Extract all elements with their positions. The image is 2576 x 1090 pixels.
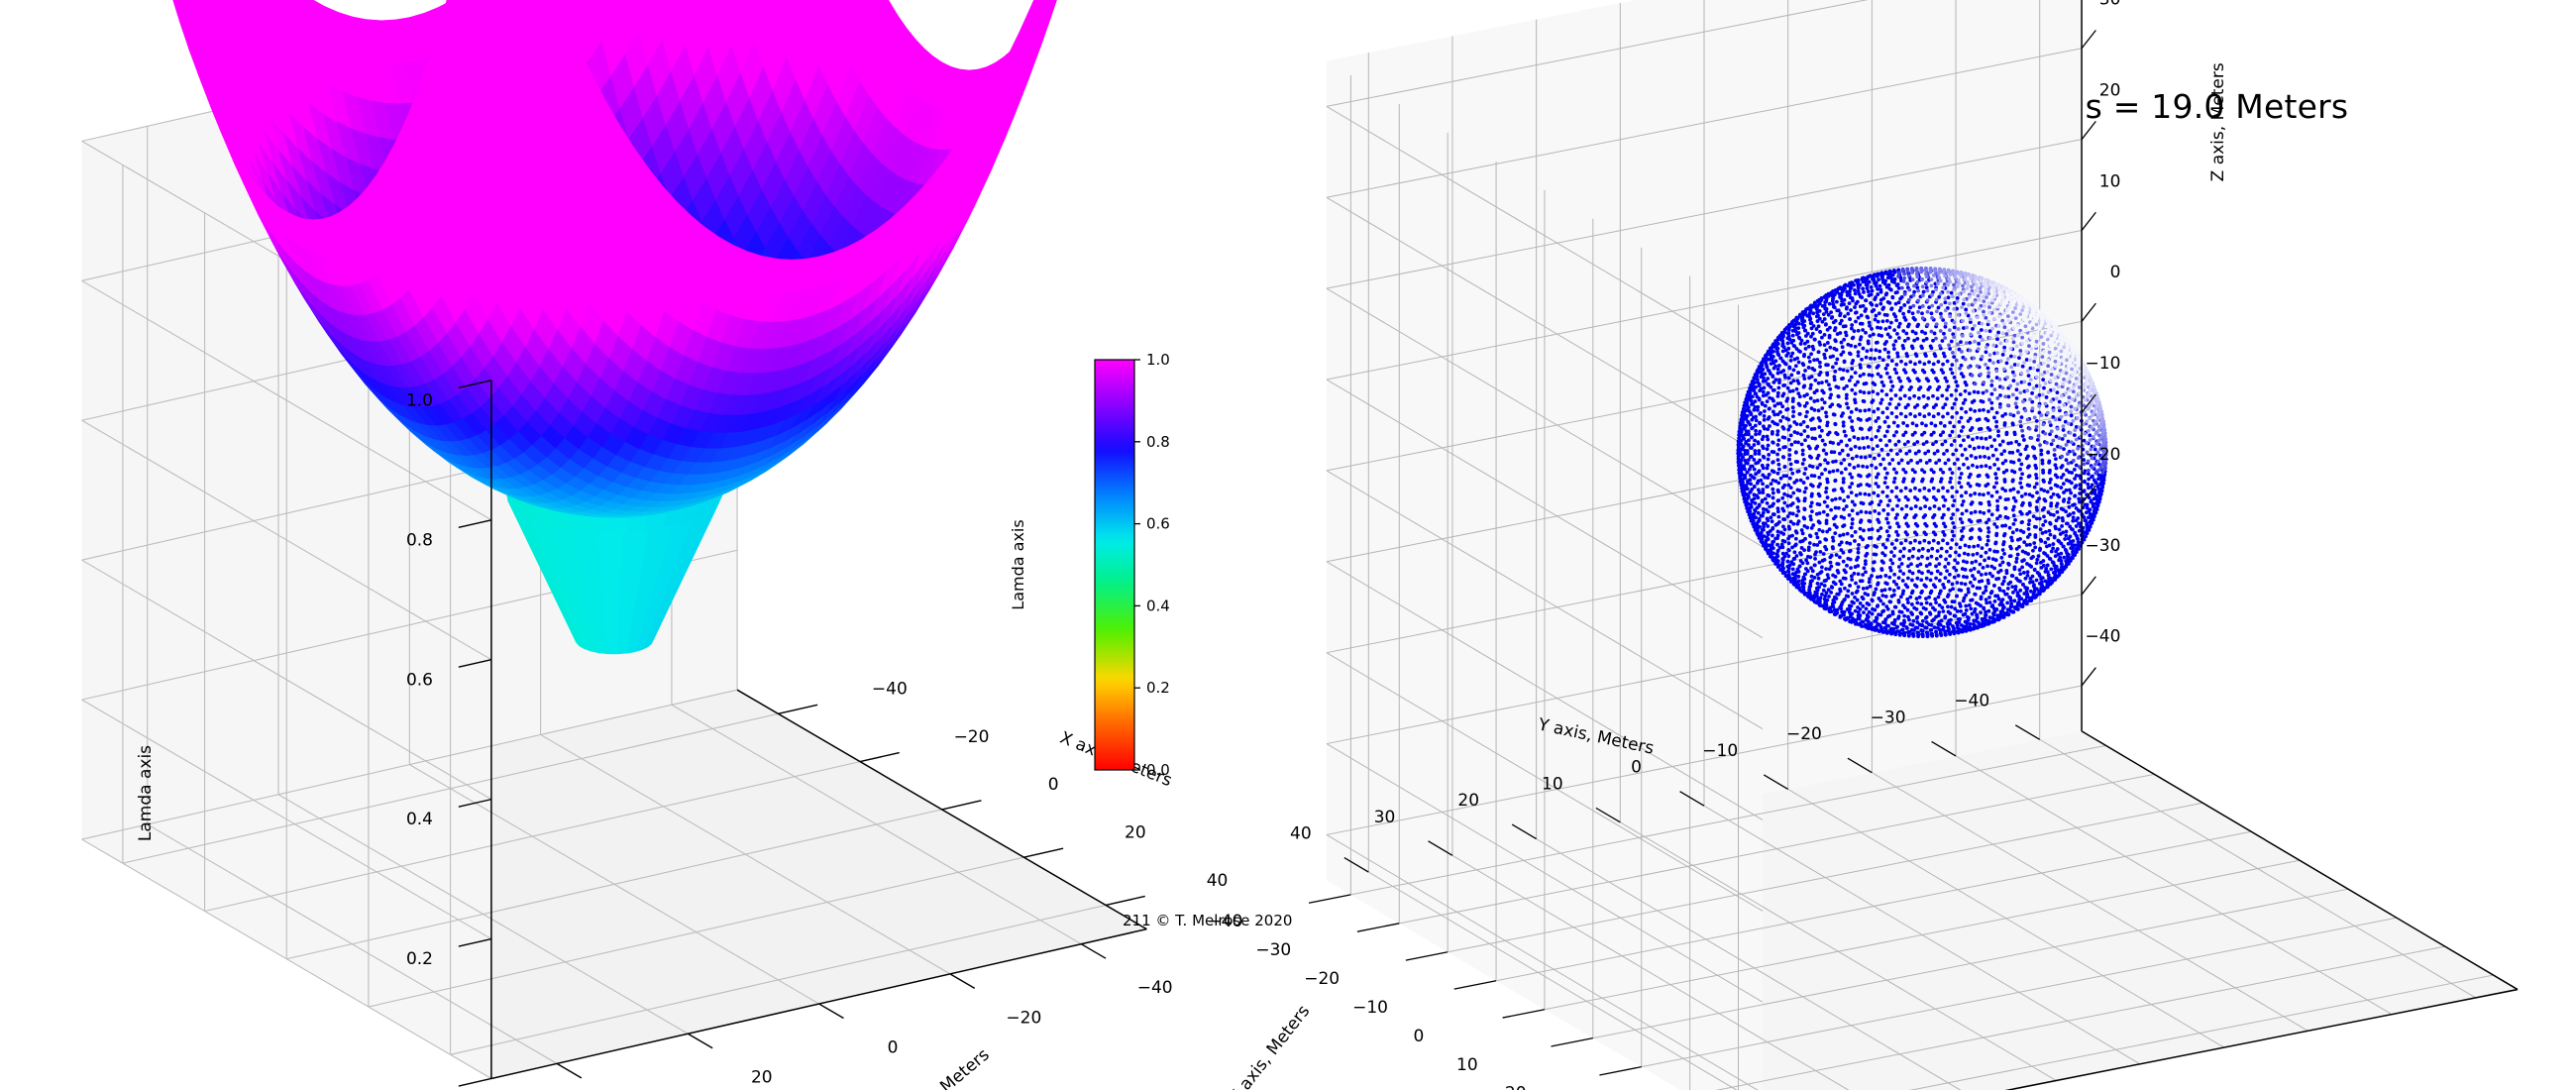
- svg-text:0.6: 0.6: [406, 670, 433, 690]
- colorbar-tick-label: 0.0: [1146, 761, 1170, 779]
- colorbar-tick-label: 1.0: [1146, 351, 1170, 369]
- y-tick-label: 30: [1374, 808, 1396, 827]
- y-tick-label: 0: [1631, 758, 1642, 778]
- lamda-surface-axes3d: −40−2002040−40−20020400.00.20.40.60.81.0…: [0, 0, 1288, 1090]
- svg-text:0.8: 0.8: [406, 530, 433, 550]
- colorbar-label: Lamda axis: [1009, 519, 1027, 609]
- figure-canvas: A Plot of Lamda vs. X and Y −40−2002040−…: [0, 0, 2576, 1090]
- z-tick-label: −10: [2086, 354, 2121, 374]
- svg-text:−20: −20: [954, 727, 990, 747]
- colorbar-tick-label: 0.2: [1146, 679, 1170, 697]
- svg-text:40: 40: [1207, 871, 1229, 891]
- sphere-scatter-axes3d: −40−30−20−10010203040403020100−10−20−30−…: [1288, 0, 2576, 1090]
- y-tick-label: 10: [1542, 774, 1563, 794]
- y-tick-label: −30: [1871, 708, 1906, 727]
- z-tick-label: 30: [2099, 0, 2121, 10]
- y-tick-label: −10: [1702, 741, 1738, 761]
- x-tick-label: −10: [1352, 998, 1388, 1018]
- svg-text:0: 0: [1048, 775, 1059, 795]
- x-tick-label: 10: [1456, 1055, 1478, 1075]
- x-tick-label: −20: [1304, 969, 1340, 989]
- svg-text:−20: −20: [1006, 1008, 1041, 1028]
- y-tick-label: 40: [1290, 823, 1312, 843]
- colorbar-tick-label: 0.6: [1146, 515, 1170, 533]
- z-axis-label: Z axis, Meters: [2208, 62, 2228, 181]
- svg-text:20: 20: [1125, 823, 1146, 843]
- z-tick-label: −20: [2086, 445, 2121, 465]
- svg-text:−40: −40: [1137, 978, 1173, 998]
- x-tick-label: 20: [1505, 1084, 1527, 1090]
- axis-panes: [1327, 0, 2518, 1090]
- svg-text:20: 20: [751, 1068, 773, 1088]
- colorbar-tick-label: 0.4: [1146, 597, 1170, 614]
- svg-text:0.4: 0.4: [406, 810, 433, 829]
- colorbar[interactable]: 0.00.20.40.60.81.0Lamda axis: [1009, 351, 1170, 779]
- y-tick-label: −40: [1954, 692, 1989, 711]
- right-plot-panel: The Sphere of Point Masses, Radius = 19.…: [1288, 0, 2576, 1090]
- colorbar-gradient[interactable]: [1095, 360, 1134, 770]
- z-tick-label: 0: [2110, 263, 2121, 282]
- z-tick-label: −30: [2086, 536, 2121, 556]
- svg-text:0.2: 0.2: [406, 949, 433, 969]
- copyright-footer: 211 © T. Melrose 2020: [1123, 912, 1292, 929]
- y-tick-label: −20: [1786, 724, 1822, 744]
- y-tick-label: 20: [1457, 791, 1479, 811]
- svg-text:0: 0: [888, 1038, 899, 1058]
- colorbar-tick-label: 0.8: [1146, 433, 1170, 451]
- svg-text:1.0: 1.0: [406, 390, 433, 410]
- z-tick-label: −40: [2086, 627, 2121, 647]
- y-axis-label: Y axis, Meters: [890, 1044, 994, 1090]
- x-tick-label: 0: [1414, 1027, 1425, 1046]
- z-tick-label: 10: [2099, 171, 2121, 191]
- left-plot-panel: A Plot of Lamda vs. X and Y −40−2002040−…: [0, 0, 1288, 1090]
- z-axis-label: Lamda axis: [136, 745, 156, 841]
- svg-text:−40: −40: [872, 680, 908, 700]
- z-tick-label: 20: [2099, 80, 2121, 100]
- x-tick-label: −30: [1255, 940, 1291, 960]
